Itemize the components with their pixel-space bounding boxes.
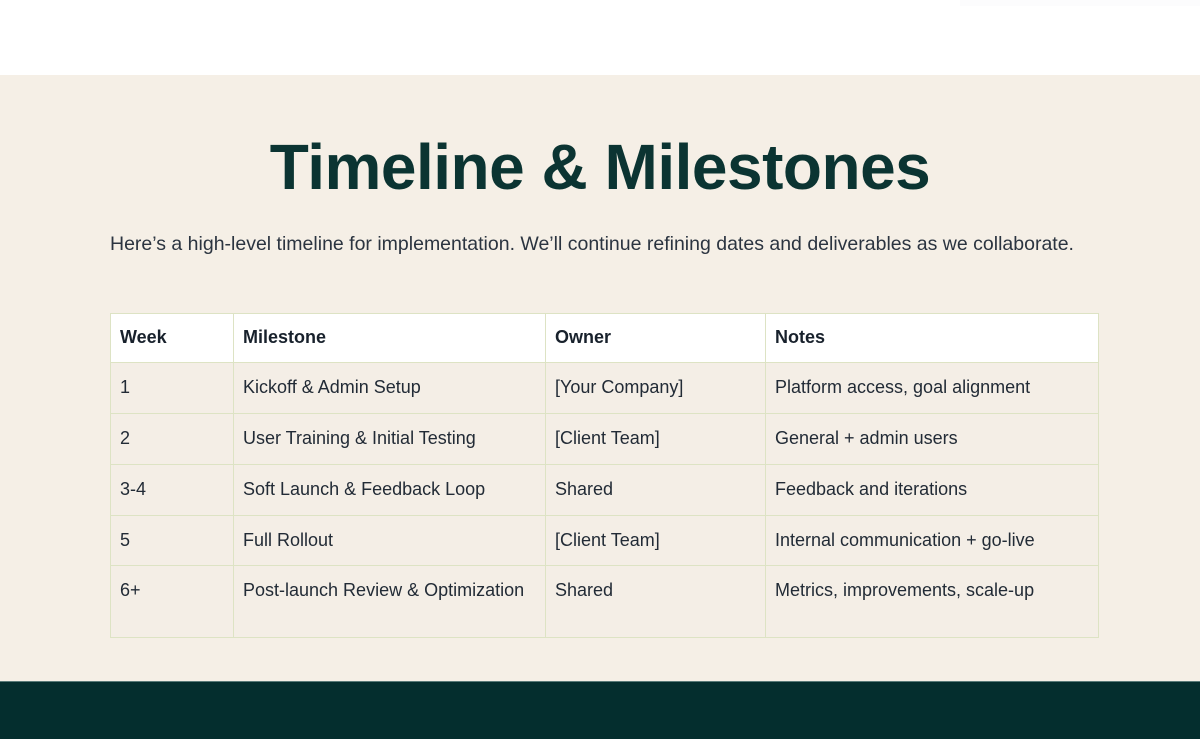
cell-week: 2 <box>111 413 234 464</box>
table-row: 3-4 Soft Launch & Feedback Loop Shared F… <box>111 464 1099 515</box>
cell-notes: Platform access, goal alignment <box>766 362 1099 413</box>
column-header-owner: Owner <box>546 314 766 363</box>
table-row: 1 Kickoff & Admin Setup [Your Company] P… <box>111 362 1099 413</box>
cell-milestone: Full Rollout <box>234 515 546 566</box>
top-right-faint-mark <box>960 0 1200 6</box>
cell-notes: Internal communication + go-live <box>766 515 1099 566</box>
cell-notes: Feedback and iterations <box>766 464 1099 515</box>
cell-milestone: Kickoff & Admin Setup <box>234 362 546 413</box>
cell-milestone: Soft Launch & Feedback Loop <box>234 464 546 515</box>
cell-owner: [Client Team] <box>546 515 766 566</box>
cell-week: 6+ <box>111 566 234 638</box>
table-row: 6+ Post-launch Review & Optimization Sha… <box>111 566 1099 638</box>
timeline-table-container: Week Milestone Owner Notes 1 Kickoff & A… <box>110 313 1098 638</box>
cell-notes: Metrics, improvements, scale-up <box>766 566 1099 638</box>
column-header-milestone: Milestone <box>234 314 546 363</box>
page-subtitle: Here’s a high-level timeline for impleme… <box>110 231 1110 257</box>
cell-week: 3-4 <box>111 464 234 515</box>
table-row: 2 User Training & Initial Testing [Clien… <box>111 413 1099 464</box>
footer-bar <box>0 681 1200 739</box>
table-header-row: Week Milestone Owner Notes <box>111 314 1099 363</box>
timeline-table: Week Milestone Owner Notes 1 Kickoff & A… <box>110 313 1099 638</box>
cell-owner: [Client Team] <box>546 413 766 464</box>
cell-owner: [Your Company] <box>546 362 766 413</box>
column-header-week: Week <box>111 314 234 363</box>
cell-milestone: User Training & Initial Testing <box>234 413 546 464</box>
table-row: 5 Full Rollout [Client Team] Internal co… <box>111 515 1099 566</box>
page-title: Timeline & Milestones <box>0 132 1200 202</box>
cell-milestone: Post-launch Review & Optimization <box>234 566 546 638</box>
cell-week: 1 <box>111 362 234 413</box>
cell-owner: Shared <box>546 464 766 515</box>
top-white-strip <box>0 0 1200 75</box>
table-body: 1 Kickoff & Admin Setup [Your Company] P… <box>111 362 1099 638</box>
cell-week: 5 <box>111 515 234 566</box>
table-header: Week Milestone Owner Notes <box>111 314 1099 363</box>
column-header-notes: Notes <box>766 314 1099 363</box>
cell-notes: General + admin users <box>766 413 1099 464</box>
slide-canvas: Timeline & Milestones Here’s a high-leve… <box>0 0 1200 739</box>
cell-owner: Shared <box>546 566 766 638</box>
